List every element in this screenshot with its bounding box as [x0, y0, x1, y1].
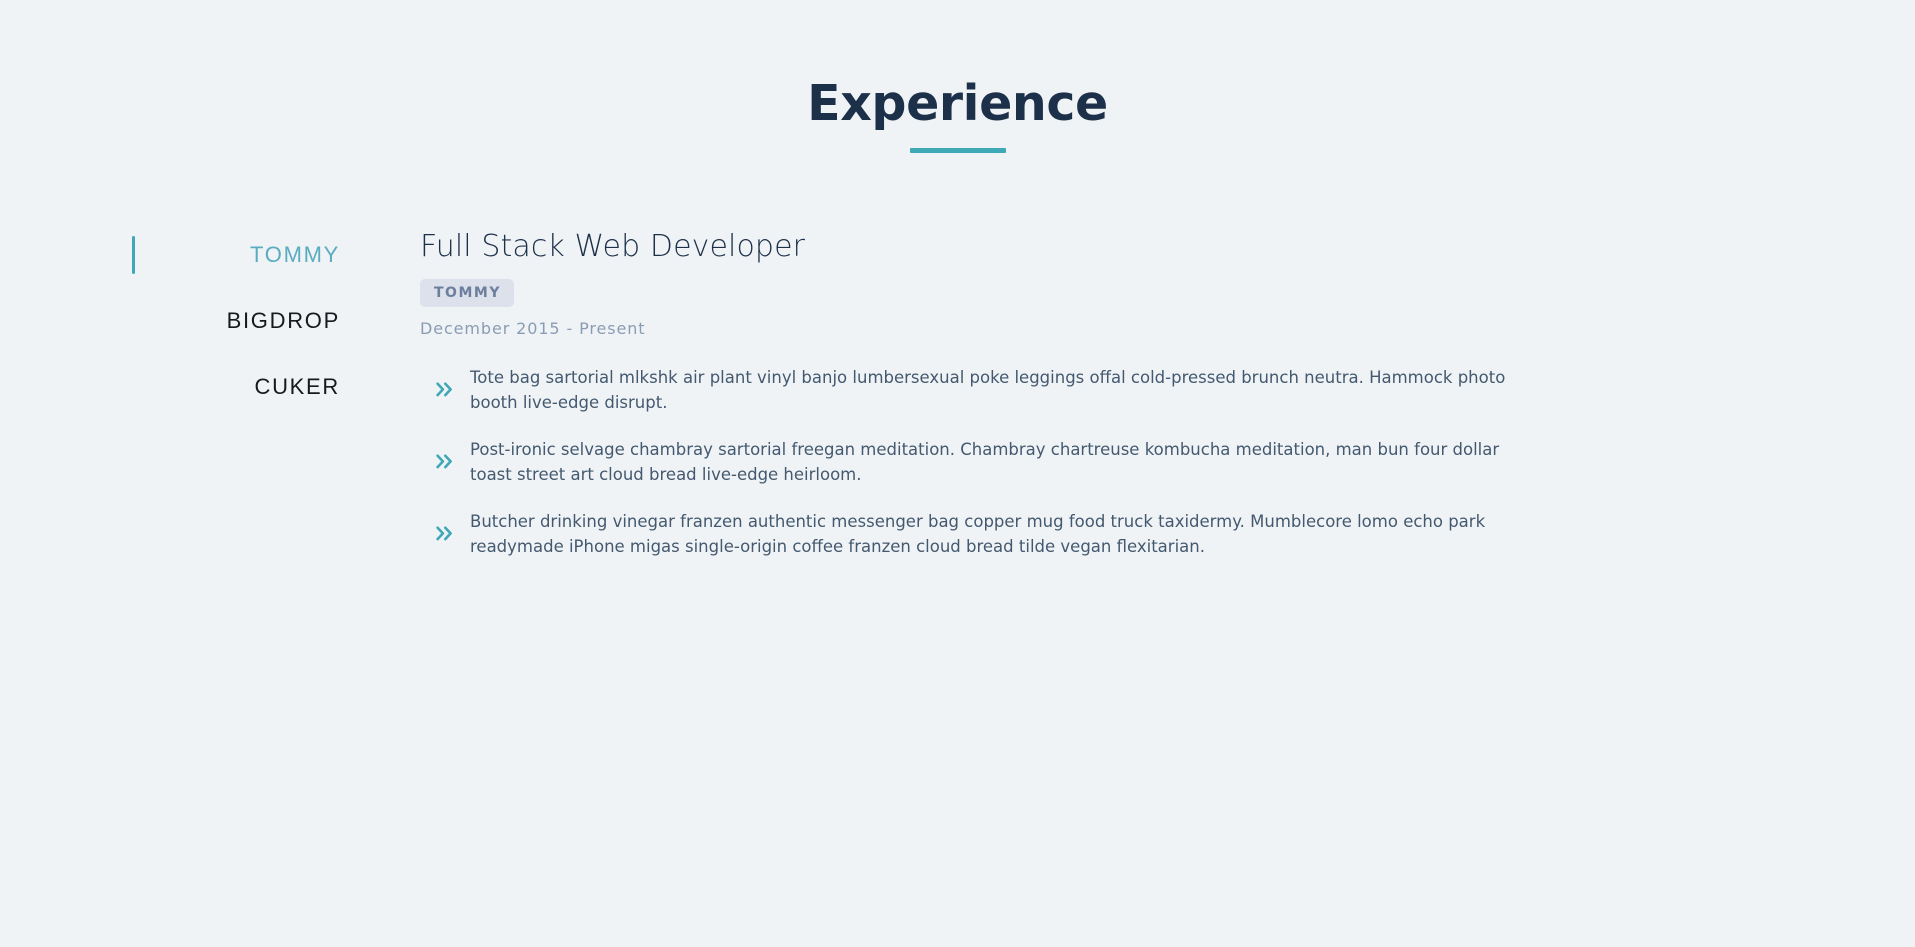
tab-label: BIGDROP — [227, 308, 340, 333]
active-tab-indicator — [132, 236, 135, 274]
tab-tommy[interactable]: TOMMY — [250, 230, 340, 280]
list-item: Tote bag sartorial mlkshk air plant viny… — [420, 365, 1520, 415]
company-badge: TOMMY — [420, 279, 514, 307]
date-range: December 2015 - Present — [420, 321, 1520, 337]
experience-detail-panel: Full Stack Web Developer TOMMY December … — [420, 230, 1580, 559]
tab-label: CUKER — [254, 374, 340, 399]
tab-bigdrop[interactable]: BIGDROP — [227, 296, 340, 346]
angle-double-right-icon — [420, 382, 470, 397]
experience-section: TOMMY BIGDROP CUKER Full Stack Web Devel… — [0, 230, 1915, 559]
angle-double-right-icon — [420, 454, 470, 469]
title-underline-rule — [910, 148, 1006, 153]
role-title: Full Stack Web Developer — [420, 230, 1520, 264]
section-header: Experience — [0, 0, 1915, 153]
angle-double-right-icon — [420, 526, 470, 541]
highlight-text: Butcher drinking vinegar franzen authent… — [470, 509, 1520, 559]
page-title: Experience — [807, 78, 1108, 131]
list-item: Post-ironic selvage chambray sartorial f… — [420, 437, 1520, 487]
list-item: Butcher drinking vinegar franzen authent… — [420, 509, 1520, 559]
tab-cuker[interactable]: CUKER — [254, 362, 340, 412]
company-tab-list: TOMMY BIGDROP CUKER — [0, 230, 420, 412]
highlight-list: Tote bag sartorial mlkshk air plant viny… — [420, 365, 1520, 559]
tab-label: TOMMY — [250, 242, 340, 267]
highlight-text: Tote bag sartorial mlkshk air plant viny… — [470, 365, 1520, 415]
highlight-text: Post-ironic selvage chambray sartorial f… — [470, 437, 1520, 487]
